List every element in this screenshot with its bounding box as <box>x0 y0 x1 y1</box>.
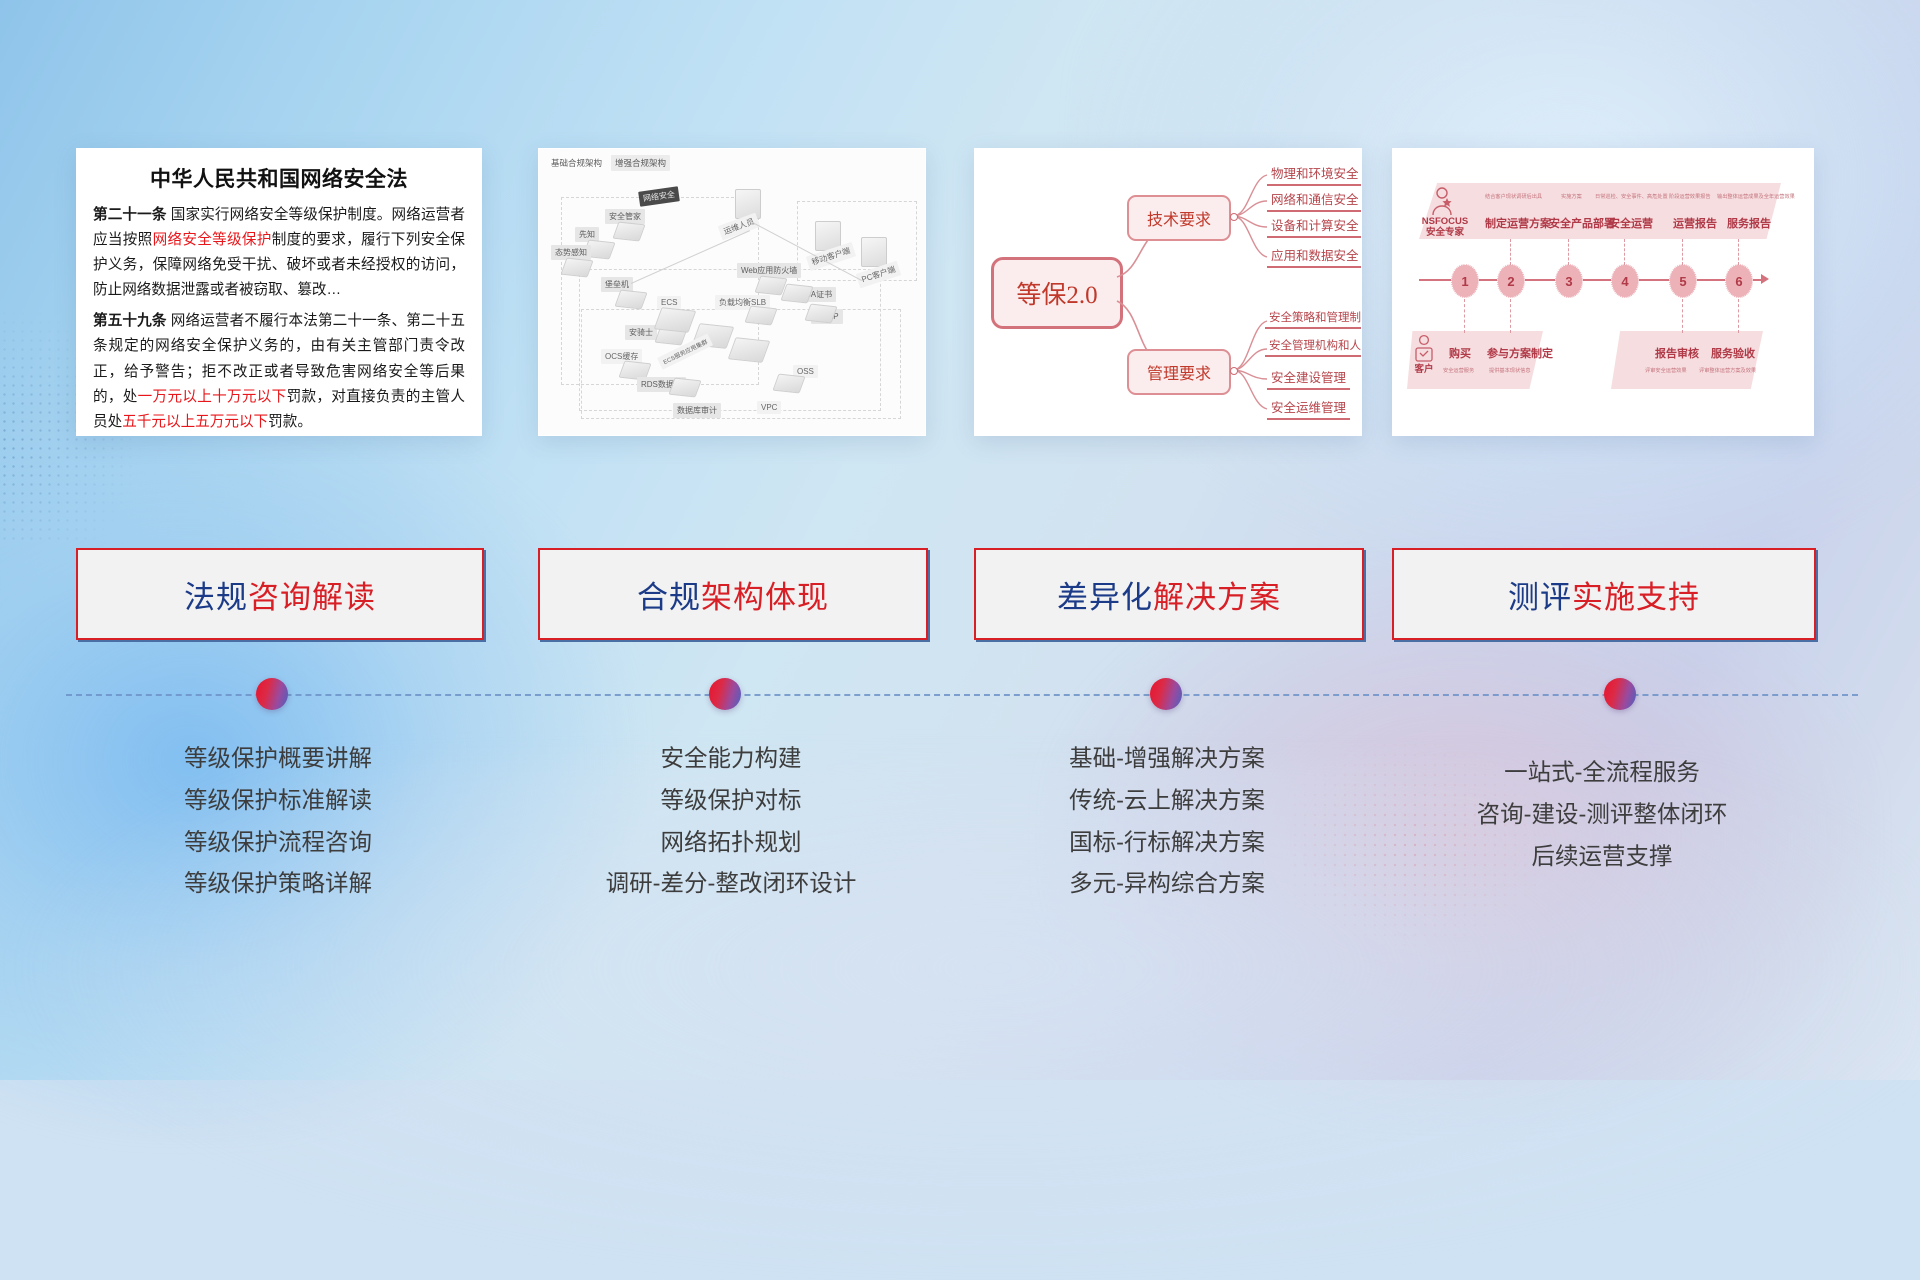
heading-2-red: 架构体现 <box>701 580 829 615</box>
timeline-dot-2[interactable] <box>709 678 741 710</box>
heading-4-red: 实施支持 <box>1572 580 1700 615</box>
heading-3-blue: 差异化 <box>1057 580 1153 615</box>
bullet-4-1: 一站式-全流程服务 <box>1392 752 1812 794</box>
timeline-step-2-sub: 实施方案 <box>1561 193 1582 200</box>
timeline-node-2: 2 <box>1497 264 1525 298</box>
timeline-step-3-title: 安全产品部署 <box>1549 215 1615 231</box>
mindmap-leaf-ops: 安全运维管理 <box>1267 397 1350 420</box>
mindmap-leaf-device: 设备和计算安全 <box>1267 215 1362 238</box>
bullet-1-3: 等级保护流程咨询 <box>76 822 480 864</box>
bullet-3-3: 国标-行标解决方案 <box>974 822 1360 864</box>
mindmap-root-node: 等保2.0 <box>991 257 1123 329</box>
timeline-node-3: 3 <box>1555 264 1583 298</box>
timeline-step-6-title: 服务报告 <box>1727 215 1771 231</box>
article-21-label: 第二十一条 <box>93 207 167 223</box>
bullet-4-3: 后续运营支撑 <box>1392 836 1812 878</box>
timeline-step-6-sub: 输出整体运营成果及全年运营效果 <box>1717 193 1795 200</box>
timeline-lead-5 <box>1682 239 1684 265</box>
article-59-highlight-1: 一万元以上十万元以下 <box>138 389 287 405</box>
timeline-lead-6 <box>1738 239 1740 265</box>
timeline-node-5: 5 <box>1669 264 1697 298</box>
timeline-node-1: 1 <box>1451 264 1479 298</box>
architecture-diagram: 基础合规架构 增强合规架构 网络安全 安全管家 先知 态势感知 堡垒机 安骑士 … <box>539 149 925 435</box>
customer-action-2-title: 参与方案制定 <box>1487 345 1553 361</box>
provider-label: NSFOCUS 安全专家 <box>1419 217 1471 239</box>
card-cybersecurity-law: 中华人民共和国网络安全法 第二十一条 国家实行网络安全等级保护制度。网络运营者应… <box>76 148 482 436</box>
bullet-2-4: 调研-差分-整改闭环设计 <box>538 863 924 905</box>
bullet-column-4: 一站式-全流程服务 咨询-建设-测评整体闭环 后续运营支撑 <box>1392 752 1812 877</box>
mindmap: 等保2.0 技术要求 物理和环境安全 网络和通信安全 设备和计算安全 应用和数据… <box>975 149 1361 435</box>
customer-action-3-title: 报告审核 <box>1655 345 1699 361</box>
customer-action-3-sub: 评审安全运营效果 <box>1645 367 1687 374</box>
timeline-node-6: 6 <box>1725 264 1753 298</box>
bullet-3-4: 多元-异构综合方案 <box>974 863 1360 905</box>
architecture-node-dbaudit: 数据库审计 <box>673 403 721 418</box>
heading-3-red: 解决方案 <box>1153 580 1281 615</box>
bullet-2-2: 等级保护对标 <box>538 780 924 822</box>
law-article-59: 第五十九条 网络运营者不履行本法第二十一条、第二十五条规定的网络安全保护义务的，… <box>93 309 465 434</box>
customer-action-2-sub: 提供基本现状信息 <box>1489 367 1531 374</box>
mindmap-leaf-policy: 安全策略和管理制度 <box>1265 309 1362 329</box>
illustration-cards-row: 中华人民共和国网络安全法 第二十一条 国家实行网络安全等级保护制度。网络运营者应… <box>0 148 1920 440</box>
article-21-highlight: 网络安全等级保护 <box>153 232 272 248</box>
heading-2-blue: 合规 <box>637 580 701 615</box>
article-59-highlight-2: 五千元以上五万元以下 <box>122 414 268 430</box>
architecture-device-pc <box>861 237 887 267</box>
bullet-1-1: 等级保护概要讲解 <box>76 738 480 780</box>
card-nsfocus-service-timeline: NSFOCUS 安全专家 结合客户现状调研后出具 制定运营方案 实施方案 安全产… <box>1392 148 1814 436</box>
heading-box-evaluation-support[interactable]: 测评实施支持 <box>1392 548 1816 640</box>
timeline-lead-c5 <box>1682 299 1684 333</box>
customer-person-icon <box>1413 333 1435 365</box>
heading-4-blue: 测评 <box>1508 580 1572 615</box>
bullet-2-1: 安全能力构建 <box>538 738 924 780</box>
heading-3-text: 差异化解决方案 <box>1057 572 1281 617</box>
timeline-lead-c6 <box>1738 299 1740 333</box>
mindmap-branch-technical: 技术要求 <box>1127 195 1231 241</box>
timeline-step-5-sub: 阶段运营效果报告 <box>1669 193 1711 200</box>
heading-2-text: 合规架构体现 <box>637 572 829 617</box>
provider-label-line2: 安全专家 <box>1419 228 1471 239</box>
bullet-1-4: 等级保护策略详解 <box>76 863 480 905</box>
card-compliance-architecture: 基础合规架构 增强合规架构 网络安全 安全管家 先知 态势感知 堡垒机 安骑士 … <box>538 148 926 436</box>
mindmap-collapse-dot-management[interactable] <box>1230 367 1238 375</box>
timeline-dot-3[interactable] <box>1150 678 1182 710</box>
architecture-tabs: 基础合规架构 增强合规架构 <box>547 155 670 171</box>
provider-person-icon <box>1429 185 1455 219</box>
architecture-tab-enhanced[interactable]: 增强合规架构 <box>611 155 670 171</box>
timeline-lead-c2 <box>1510 299 1512 333</box>
heading-1-blue: 法规 <box>184 580 248 615</box>
article-59-label: 第五十九条 <box>93 313 167 329</box>
bullet-column-1: 等级保护概要讲解 等级保护标准解读 等级保护流程咨询 等级保护策略详解 <box>76 738 480 905</box>
mindmap-branch-management: 管理要求 <box>1127 349 1231 395</box>
heading-box-differentiated-solution[interactable]: 差异化解决方案 <box>974 548 1364 640</box>
timeline-arrow-icon <box>1761 274 1769 284</box>
bullet-1-2: 等级保护标准解读 <box>76 780 480 822</box>
timeline-step-4-title: 安全运营 <box>1609 215 1653 231</box>
customer-label: 客户 <box>1411 365 1437 376</box>
timeline-node-4: 4 <box>1611 264 1639 298</box>
mindmap-leaf-physical: 物理和环境安全 <box>1267 163 1362 186</box>
architecture-node-anqishi: 安骑士 <box>625 325 657 340</box>
bullet-3-2: 传统-云上解决方案 <box>974 780 1360 822</box>
article-59-text-3: 罚款。 <box>268 414 312 430</box>
timeline-lead-2 <box>1510 239 1512 265</box>
timeline-lead-3 <box>1568 239 1570 265</box>
heading-box-compliance-architecture[interactable]: 合规架构体现 <box>538 548 928 640</box>
heading-4-text: 测评实施支持 <box>1508 572 1700 617</box>
progress-timeline-line <box>66 694 1858 696</box>
mindmap-leaf-network: 网络和通信安全 <box>1267 189 1362 212</box>
law-article-21: 第二十一条 国家实行网络安全等级保护制度。网络运营者应当按照网络安全等级保护制度… <box>93 203 465 303</box>
timeline-step-1-sub: 结合客户现状调研后出具 <box>1485 193 1542 200</box>
heading-1-red: 咨询解读 <box>248 580 376 615</box>
architecture-node-vpc: VPC <box>757 401 781 414</box>
bullet-column-2: 安全能力构建 等级保护对标 网络拓扑规划 调研-差分-整改闭环设计 <box>538 738 924 905</box>
card-dengbao-mindmap: 等保2.0 技术要求 物理和环境安全 网络和通信安全 设备和计算安全 应用和数据… <box>974 148 1362 436</box>
timeline-step-3-sub: 日常巡检、安全事件、高危处置 <box>1595 193 1668 200</box>
timeline-step-5-title: 运营报告 <box>1673 215 1717 231</box>
law-title: 中华人民共和国网络安全法 <box>93 163 465 193</box>
timeline-dot-1[interactable] <box>256 678 288 710</box>
heading-box-regulation-consulting[interactable]: 法规咨询解读 <box>76 548 484 640</box>
customer-action-1-title: 购买 <box>1449 345 1471 361</box>
timeline-lead-4 <box>1624 239 1626 265</box>
bullet-column-3: 基础-增强解决方案 传统-云上解决方案 国标-行标解决方案 多元-异构综合方案 <box>974 738 1360 905</box>
nsfocus-timeline: NSFOCUS 安全专家 结合客户现状调研后出具 制定运营方案 实施方案 安全产… <box>1393 149 1813 435</box>
timeline-lead-c1 <box>1464 299 1466 333</box>
timeline-step-2-title: 制定运营方案 <box>1485 215 1551 231</box>
mindmap-leaf-org: 安全管理机构和人员 <box>1265 337 1362 357</box>
mindmap-leaf-build: 安全建设管理 <box>1267 367 1350 390</box>
customer-action-4-sub: 评审整体运营方案及效果 <box>1699 367 1756 374</box>
heading-1-text: 法规咨询解读 <box>184 572 376 617</box>
customer-action-4-title: 服务验收 <box>1711 345 1755 361</box>
mindmap-leaf-app: 应用和数据安全 <box>1267 245 1362 268</box>
bullet-3-1: 基础-增强解决方案 <box>974 738 1360 780</box>
bullet-2-3: 网络拓扑规划 <box>538 822 924 864</box>
architecture-tab-basic[interactable]: 基础合规架构 <box>547 155 606 171</box>
timeline-dot-4[interactable] <box>1604 678 1636 710</box>
customer-action-1-sub: 安全运营服务 <box>1443 367 1474 374</box>
bullet-4-2: 咨询-建设-测评整体闭环 <box>1392 794 1812 836</box>
mindmap-collapse-dot-technical[interactable] <box>1230 213 1238 221</box>
